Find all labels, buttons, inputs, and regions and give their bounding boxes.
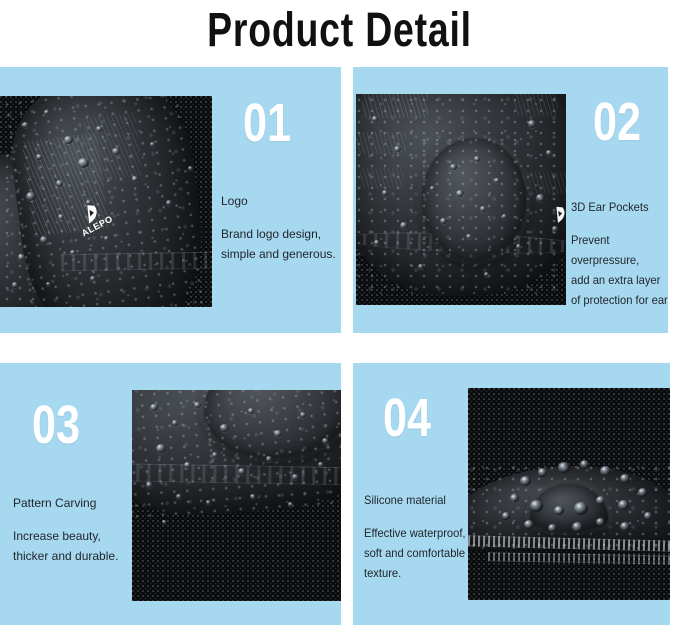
description-line: simple and generous. <box>221 244 341 264</box>
water-droplet <box>300 412 306 418</box>
water-droplet <box>56 180 63 187</box>
water-bead <box>638 488 647 497</box>
water-droplet <box>418 264 424 269</box>
water-droplet <box>194 402 201 408</box>
water-bead <box>502 512 510 520</box>
water-droplet <box>112 148 120 155</box>
carved-ridges <box>362 94 428 118</box>
carved-ridges <box>360 168 404 188</box>
water-droplet <box>22 122 29 128</box>
water-droplet <box>394 146 401 152</box>
water-droplet <box>248 408 254 414</box>
description-line: Brand logo design, <box>221 224 341 244</box>
cap-body-main <box>3 96 212 307</box>
water-bead <box>580 460 589 469</box>
water-droplet <box>450 164 457 170</box>
water-droplet <box>86 200 91 205</box>
water-droplet <box>58 214 64 220</box>
water-bead <box>596 518 605 526</box>
water-bead <box>530 500 543 512</box>
water-droplet <box>212 452 218 458</box>
water-droplet <box>132 176 138 182</box>
water-droplet <box>44 110 49 115</box>
water-bead <box>572 522 583 532</box>
feature-heading-04: Silicone material <box>364 493 446 508</box>
water-bead <box>554 506 564 515</box>
carved-ridges <box>83 112 142 182</box>
water-bead <box>520 476 531 486</box>
water-bead <box>538 468 547 477</box>
feature-number-03: 03 <box>32 398 80 452</box>
water-droplet <box>18 254 25 261</box>
water-droplet <box>536 194 545 202</box>
water-droplet <box>484 272 489 277</box>
water-droplet <box>480 206 486 212</box>
water-droplet <box>456 190 464 197</box>
feature-number-04: 04 <box>383 391 431 445</box>
water-droplet <box>502 214 507 219</box>
feature-image-01: ALEPO <box>0 96 212 307</box>
feature-description-03: Increase beauty, thicker and durable. <box>13 526 138 566</box>
feature-image-02 <box>356 94 566 305</box>
water-droplet <box>162 520 167 524</box>
description-line: soft and comfortable <box>364 543 476 563</box>
water-droplet <box>166 200 172 206</box>
water-droplet <box>78 158 89 168</box>
carved-ridges <box>520 172 566 194</box>
water-droplet <box>64 136 73 144</box>
description-line: of protection for ears. <box>571 290 668 310</box>
water-droplet <box>430 186 435 191</box>
description-line: Increase beauty, <box>13 526 138 546</box>
page-title: Product Detail <box>75 2 605 60</box>
water-droplet <box>250 494 256 499</box>
water-bead <box>524 520 534 529</box>
water-droplet <box>516 244 521 249</box>
feature-image-04 <box>468 388 670 600</box>
feature-description-02: Prevent overpressure, add an extra layer… <box>571 230 668 310</box>
water-bead <box>558 462 570 473</box>
water-bead <box>644 512 652 520</box>
feature-heading-01: Logo <box>221 194 248 209</box>
feature-panel-01: ALEPO 01 Logo Brand logo design, simple … <box>0 67 341 333</box>
water-droplet <box>70 250 76 255</box>
water-bead <box>510 494 519 502</box>
feature-heading-02: 3D Ear Pockets <box>571 200 649 215</box>
water-droplet <box>546 150 552 156</box>
water-droplet <box>288 502 293 507</box>
feature-panel-02: 02 3D Ear Pockets Prevent overpressure, … <box>353 67 668 333</box>
feature-panel-03: 03 Pattern Carving Increase beauty, thic… <box>0 363 341 625</box>
water-droplet <box>372 116 378 122</box>
water-droplet <box>474 156 480 162</box>
water-bead <box>596 496 605 505</box>
water-droplet <box>40 236 48 244</box>
water-droplet <box>90 276 96 281</box>
water-droplet <box>172 420 178 426</box>
feature-heading-03: Pattern Carving <box>13 496 96 511</box>
water-droplet <box>220 424 229 432</box>
feature-description-04: Effective waterproof, soft and comfortab… <box>364 523 476 583</box>
water-droplet <box>494 178 500 183</box>
water-droplet <box>318 462 324 467</box>
water-droplet <box>440 218 447 224</box>
description-line: Effective waterproof, <box>364 523 476 543</box>
water-droplet <box>552 226 558 232</box>
feature-image-03 <box>132 390 341 601</box>
water-bead <box>574 502 588 515</box>
water-bead <box>618 500 629 510</box>
water-droplet <box>150 404 158 411</box>
water-bead <box>620 522 630 531</box>
water-droplet <box>188 166 193 171</box>
water-droplet <box>156 444 166 453</box>
water-droplet <box>400 222 408 229</box>
description-line: Prevent overpressure, <box>571 230 668 270</box>
description-line: thicker and durable. <box>13 546 138 566</box>
feature-number-01: 01 <box>243 96 291 150</box>
water-droplet <box>238 468 246 475</box>
carved-ridges <box>514 94 558 116</box>
water-droplet <box>12 282 18 288</box>
scallop-band <box>61 252 211 272</box>
water-droplet <box>146 482 153 488</box>
water-droplet <box>184 462 191 468</box>
description-line: add an extra layer <box>571 270 668 290</box>
water-droplet <box>26 192 36 201</box>
water-droplet <box>292 474 299 480</box>
water-bead <box>548 524 557 532</box>
water-droplet <box>528 120 536 128</box>
water-bead <box>620 474 630 483</box>
water-droplet <box>206 500 211 505</box>
feature-description-01: Brand logo design, simple and generous. <box>221 224 341 264</box>
feature-panel-04: 04 Silicone material Effective waterproo… <box>353 363 670 625</box>
water-droplet <box>104 236 109 241</box>
description-line: texture. <box>364 563 476 583</box>
water-droplet <box>466 234 472 239</box>
water-droplet <box>96 126 102 132</box>
water-droplet <box>382 190 388 196</box>
water-droplet <box>322 438 329 444</box>
water-droplet <box>46 282 51 286</box>
feature-number-02: 02 <box>593 95 641 149</box>
water-droplet <box>266 456 272 462</box>
water-droplet <box>176 494 182 499</box>
water-droplet <box>36 154 42 160</box>
water-droplet <box>374 240 380 245</box>
water-droplet <box>274 430 282 437</box>
water-bead <box>600 466 611 476</box>
water-droplet <box>150 142 155 147</box>
